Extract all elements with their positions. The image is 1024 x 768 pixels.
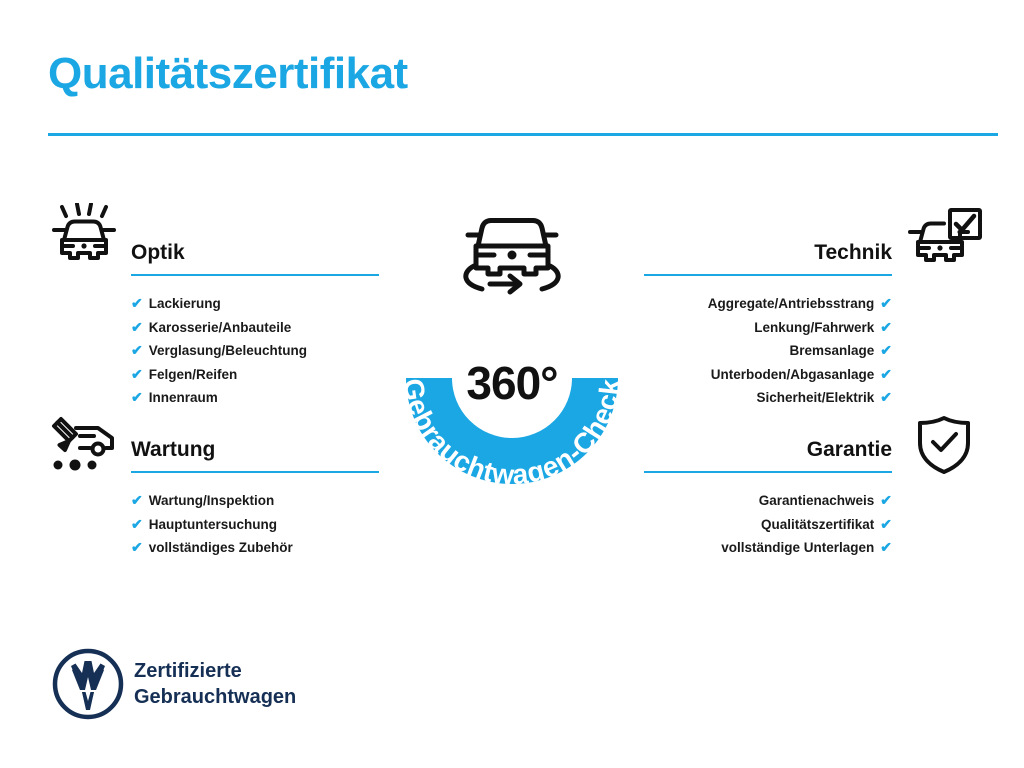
section-divider-garantie xyxy=(644,471,892,474)
check-icon: ✔ xyxy=(880,489,892,513)
check-icon: ✔ xyxy=(131,292,143,316)
list-item: Lenkung/Fahrwerk ✔ xyxy=(644,316,892,340)
list-item-label: Wartung/Inspektion xyxy=(149,489,275,513)
car-checkbox-icon xyxy=(906,208,984,268)
section-header-wartung: Wartung xyxy=(131,435,379,475)
shield-check-icon xyxy=(912,414,976,476)
list-item: ✔ Karosserie/Anbauteile xyxy=(131,316,379,340)
list-item: Qualitätszertifikat ✔ xyxy=(644,513,892,537)
list-item-label: Sicherheit/Elektrik xyxy=(756,386,874,410)
check-icon: ✔ xyxy=(880,339,892,363)
section-divider-wartung xyxy=(131,471,379,474)
check-icon: ✔ xyxy=(880,363,892,387)
footer-brand-text: Zertifizierte Gebrauchtwagen xyxy=(134,658,296,710)
section-garantie: Garantie Garantienachweis ✔ Qualitätszer… xyxy=(644,435,892,560)
checklist-optik: ✔ Lackierung ✔ Karosserie/Anbauteile ✔ V… xyxy=(131,292,379,410)
title-divider xyxy=(48,133,998,136)
check-icon: ✔ xyxy=(131,513,143,537)
check-icon: ✔ xyxy=(131,489,143,513)
list-item: ✔ Felgen/Reifen xyxy=(131,363,379,387)
list-item: ✔ Lackierung xyxy=(131,292,379,316)
list-item: ✔ vollständiges Zubehör xyxy=(131,536,379,560)
check-icon: ✔ xyxy=(880,316,892,340)
list-item: vollständige Unterlagen ✔ xyxy=(644,536,892,560)
section-divider-optik xyxy=(131,274,379,277)
check-icon: ✔ xyxy=(131,316,143,340)
section-optik: Optik ✔ Lackierung ✔ Karosserie/Anbautei… xyxy=(131,238,379,410)
list-item-label: Lenkung/Fahrwerk xyxy=(754,316,874,340)
section-title-garantie: Garantie xyxy=(644,435,892,465)
check-icon: ✔ xyxy=(880,536,892,560)
section-header-technik: Technik xyxy=(644,238,892,278)
list-item: Aggregate/Antriebsstrang ✔ xyxy=(644,292,892,316)
list-item-label: Unterboden/Abgasanlage xyxy=(711,363,875,387)
vw-roundel-icon xyxy=(52,648,124,720)
section-header-garantie: Garantie xyxy=(644,435,892,475)
car-shine-icon xyxy=(46,203,122,265)
certificate-page: Qualitätszertifikat xyxy=(0,0,1024,768)
list-item-label: vollständige Unterlagen xyxy=(721,536,874,560)
section-wartung: Wartung ✔ Wartung/Inspektion ✔ Hauptunte… xyxy=(131,435,379,560)
section-technik: Technik Aggregate/Antriebsstrang ✔ Lenku… xyxy=(644,238,892,410)
section-title-wartung: Wartung xyxy=(131,435,379,465)
footer-line-2: Gebrauchtwagen xyxy=(134,684,296,710)
page-title: Qualitätszertifikat xyxy=(48,50,408,98)
list-item-label: vollständiges Zubehör xyxy=(149,536,293,560)
360-check-badge: Gebrauchtwagen-Check 360° xyxy=(372,196,652,488)
list-item: ✔ Hauptuntersuchung xyxy=(131,513,379,537)
list-item-label: Karosserie/Anbauteile xyxy=(149,316,292,340)
check-icon: ✔ xyxy=(131,536,143,560)
check-icon: ✔ xyxy=(131,339,143,363)
checklist-technik: Aggregate/Antriebsstrang ✔ Lenkung/Fahrw… xyxy=(644,292,892,410)
section-title-optik: Optik xyxy=(131,238,379,268)
section-header-optik: Optik xyxy=(131,238,379,278)
list-item-label: Felgen/Reifen xyxy=(149,363,238,387)
list-item-label: Lackierung xyxy=(149,292,221,316)
list-item-label: Hauptuntersuchung xyxy=(149,513,277,537)
section-divider-technik xyxy=(644,274,892,277)
list-item: Garantienachweis ✔ xyxy=(644,489,892,513)
list-item: Bremsanlage ✔ xyxy=(644,339,892,363)
list-item-label: Aggregate/Antriebsstrang xyxy=(708,292,875,316)
list-item: ✔ Innenraum xyxy=(131,386,379,410)
badge-center-label: 360° xyxy=(372,356,652,410)
list-item-label: Qualitätszertifikat xyxy=(761,513,874,537)
checklist-garantie: Garantienachweis ✔ Qualitätszertifikat ✔… xyxy=(644,489,892,560)
list-item: Sicherheit/Elektrik ✔ xyxy=(644,386,892,410)
list-item-label: Innenraum xyxy=(149,386,218,410)
list-item: ✔ Wartung/Inspektion xyxy=(131,489,379,513)
check-icon: ✔ xyxy=(131,386,143,410)
check-icon: ✔ xyxy=(131,363,143,387)
list-item: Unterboden/Abgasanlage ✔ xyxy=(644,363,892,387)
list-item: ✔ Verglasung/Beleuchtung xyxy=(131,339,379,363)
list-item-label: Garantienachweis xyxy=(759,489,875,513)
check-icon: ✔ xyxy=(880,513,892,537)
section-title-technik: Technik xyxy=(644,238,892,268)
car-service-pen-icon xyxy=(46,416,122,474)
list-item-label: Bremsanlage xyxy=(789,339,874,363)
check-icon: ✔ xyxy=(880,292,892,316)
checklist-wartung: ✔ Wartung/Inspektion ✔ Hauptuntersuchung… xyxy=(131,489,379,560)
footer-line-1: Zertifizierte xyxy=(134,658,296,684)
check-icon: ✔ xyxy=(880,386,892,410)
list-item-label: Verglasung/Beleuchtung xyxy=(149,339,307,363)
